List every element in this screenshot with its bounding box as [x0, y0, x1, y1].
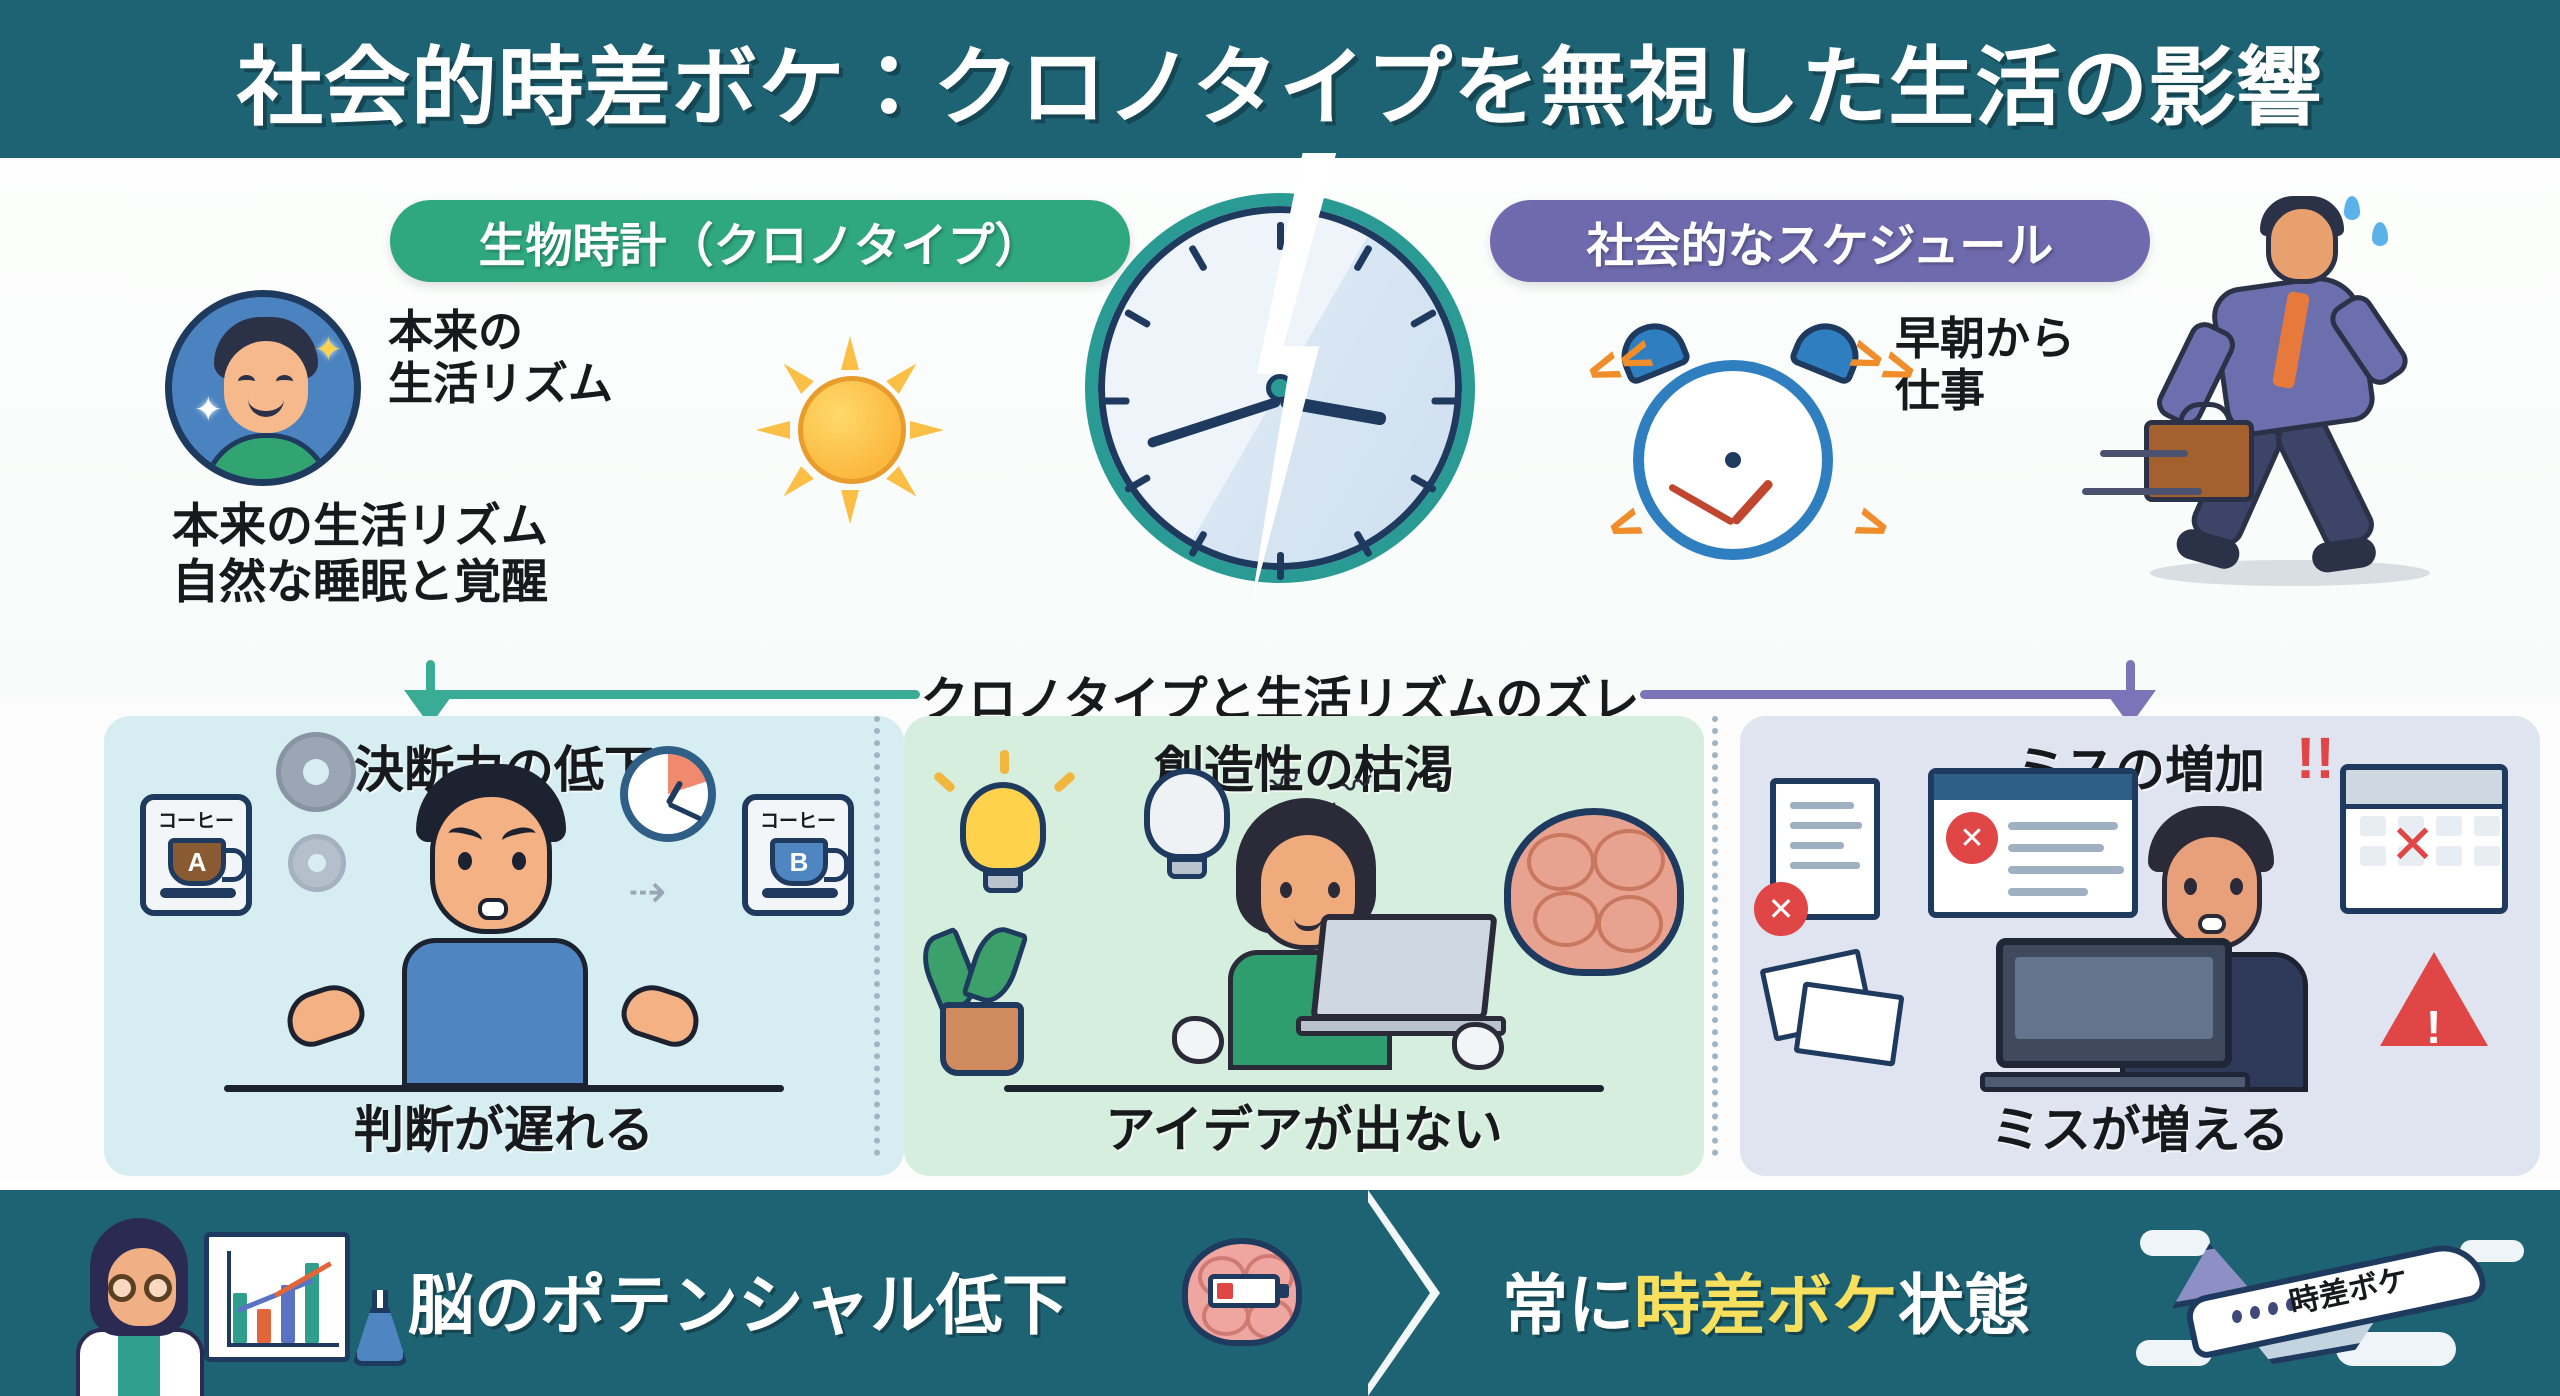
gear-icon: [276, 732, 356, 812]
title-bar: 社会的時差ボケ：クロノタイプを無視した生活の影響: [0, 0, 2560, 158]
banner-right-text: 常に時差ボケ状態: [1502, 1252, 2030, 1348]
calendar-icon: ✕: [2340, 764, 2508, 914]
small-clock-icon: [620, 746, 716, 842]
connector-down-right: [2126, 660, 2135, 694]
bar-chart-board-icon: [204, 1232, 350, 1362]
clock-face: [1085, 193, 1475, 583]
coffee-label: コーヒー: [748, 806, 848, 833]
exclamation-icon: !!: [2296, 730, 2335, 788]
avatar-face: [224, 341, 308, 433]
banner-right-prefix: 常に: [1502, 1268, 1634, 1342]
sweat-drop-icon: [2344, 196, 2360, 220]
sparkle-icon: ✦: [314, 333, 343, 367]
coffee-option-b: コーヒー B: [742, 794, 854, 916]
broken-clock-icon: [1065, 173, 1505, 593]
card-creativity-drain[interactable]: 創造性の枯渇 〰 〰 〰: [904, 716, 1704, 1176]
connector-down-left: [426, 660, 435, 694]
banner-right-highlight: 時差ボケ: [1634, 1268, 1898, 1342]
speed-line: [2082, 488, 2202, 495]
avatar-eye-left: [238, 375, 255, 388]
person-avatar-icon: ✦ ✦: [165, 290, 361, 486]
alarm-clock-icon: ᐸᐸ ᐳᐳ ᐸ ᐳ: [1585, 308, 1905, 588]
avatar-eye-right: [276, 375, 293, 388]
coffee-cup-b: B: [770, 838, 828, 886]
badge-social-schedule: 社会的なスケジュール: [1490, 200, 2150, 282]
card-caption: アイデアが出ない: [904, 1090, 1704, 1162]
calendar-cross-icon: ✕: [2390, 818, 2435, 872]
banner-left-text: 脳のポテンシャル低下: [408, 1252, 1068, 1348]
swap-arrow-icon: ⇢: [628, 868, 667, 914]
alarm-body: [1633, 360, 1833, 560]
card-decision-decline[interactable]: 決断力の低下 コーヒー A コーヒー B ⇢: [104, 716, 904, 1176]
battery-icon: [1208, 1274, 1280, 1308]
bottom-divider: [0, 1178, 2560, 1190]
label-early-work: 早朝から 仕事: [1895, 313, 2075, 417]
card-mistake-increase[interactable]: ミスの増加 ✕ ✕: [1740, 716, 2540, 1176]
badge-biological-clock: 生物時計（クロノタイプ）: [390, 200, 1130, 282]
lightbulb-on-icon: [960, 782, 1046, 874]
coffee-option-a: コーヒー A: [140, 794, 252, 916]
coffee-label: コーヒー: [146, 806, 246, 833]
paper-sheet-icon: [1793, 981, 1904, 1066]
chevron-inner: [1368, 1202, 1430, 1384]
connector-line-left: [430, 690, 920, 699]
page-title: 社会的時差ボケ：クロノタイプを無視した生活の影響: [237, 17, 2323, 142]
bottom-banner: 脳のポテンシャル低下 常に時差ボケ状態: [0, 1190, 2560, 1396]
card-divider: [874, 716, 884, 1156]
doctor-presenter-icon: [46, 1218, 286, 1396]
brain-icon: [1504, 808, 1684, 976]
crumpled-paper-icon: [1452, 1022, 1504, 1070]
ring-line-icon: ᐳ: [1850, 503, 1895, 550]
confused-person-icon: [386, 752, 616, 1082]
label-natural-sleep-wake: 本来の生活リズム 自然な睡眠と覚醒: [172, 498, 548, 611]
airplane-icon: 時差ボケ: [2160, 1224, 2540, 1374]
effect-cards: 決断力の低下 コーヒー A コーヒー B ⇢: [0, 716, 2560, 1176]
error-x-icon: ✕: [1946, 812, 1998, 864]
card-caption: ミスが増える: [1740, 1090, 2540, 1162]
keyboard-icon: [1980, 1072, 2250, 1092]
label-natural-rhythm-short: 本来の 生活リズム: [388, 306, 613, 410]
shrug-hand-left-icon: [280, 977, 371, 1052]
shrug-hand-right-icon: [616, 977, 707, 1052]
connector-line-right: [1640, 690, 2130, 699]
monitor-icon: [1996, 938, 2232, 1068]
speed-line: [2100, 450, 2188, 457]
clock-minute-hand: [1146, 396, 1281, 448]
ring-line-icon: ᐸ: [1604, 503, 1649, 550]
ring-line-icon: ᐸᐸ: [1583, 336, 1659, 395]
sun-icon: [740, 328, 960, 518]
sweat-drop-icon: [2372, 222, 2388, 246]
plant-leaf-icon: [961, 921, 1029, 1009]
laptop-screen-icon: [1310, 914, 1497, 1020]
gear-icon: [288, 834, 346, 892]
coffee-cup-a: A: [168, 838, 226, 886]
banner-right-suffix: 状態: [1898, 1268, 2030, 1342]
plant-pot-icon: [940, 1002, 1024, 1076]
warning-exclamation: !: [2426, 1004, 2441, 1050]
crumpled-paper-icon: [1172, 1016, 1224, 1064]
sparkle-icon: ✦: [194, 393, 223, 427]
top-section: 生物時計（クロノタイプ） 社会的なスケジュール ✦ ✦ 本来の 生活リズム 本来…: [0, 158, 2560, 698]
error-x-icon: ✕: [1754, 882, 1808, 936]
card-divider: [1712, 716, 1722, 1156]
infographic-poster: 社会的時差ボケ：クロノタイプを無視した生活の影響 生物時計（クロノタイプ） 社会…: [0, 0, 2560, 1396]
flask-icon: [348, 1290, 412, 1368]
card-caption: 判断が遅れる: [104, 1090, 904, 1162]
low-battery-brain-icon: [1182, 1238, 1312, 1354]
avatar-body: [202, 433, 332, 486]
running-businessman-icon: [2090, 188, 2510, 588]
